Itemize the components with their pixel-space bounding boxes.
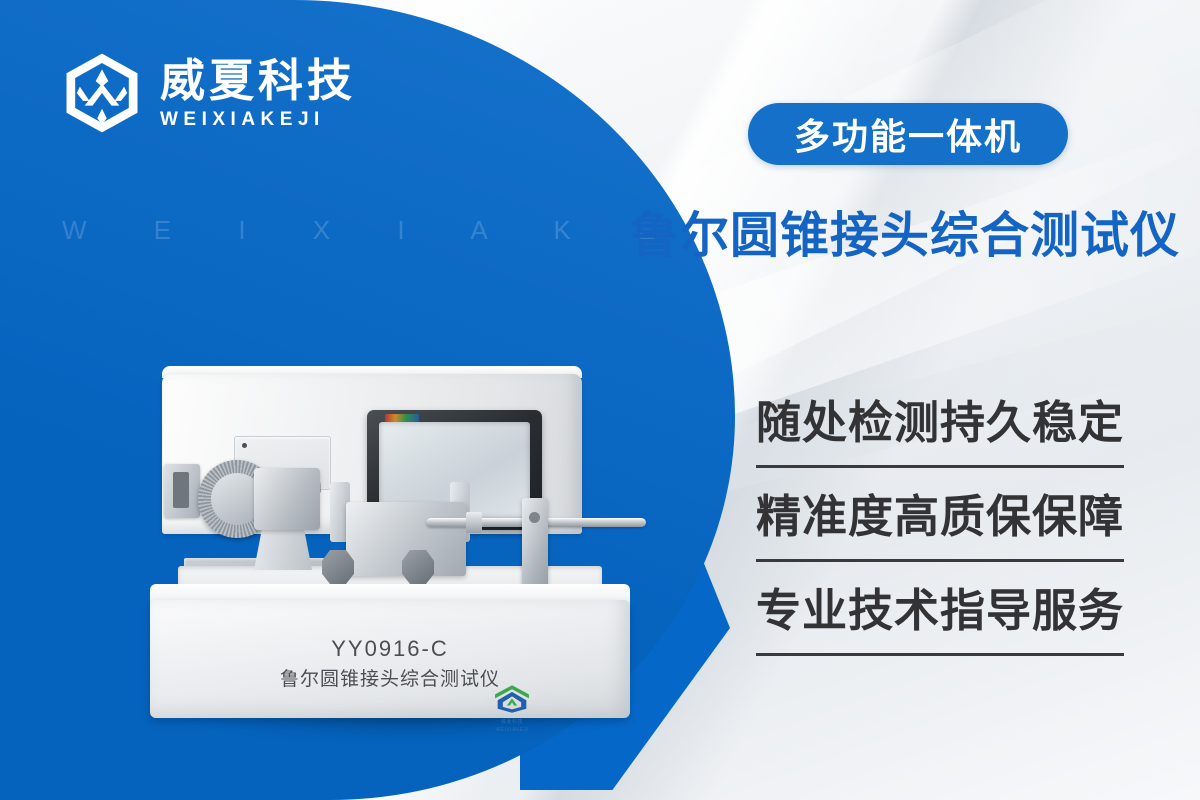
logo-name-en: WEIXIAKEJI [160, 110, 356, 129]
shaft-collar [466, 512, 482, 533]
promo-banner: W E I X I A K E J I 威夏科技 WEIXIAKEJI 多功能一… [0, 0, 1200, 800]
left-clamp-block [164, 464, 200, 518]
product-brand-badge-en: WEIXIAKEJI [490, 727, 534, 735]
feature-divider [756, 653, 1124, 656]
feature-text: 专业技术指导服务 [756, 584, 1124, 637]
hex-knob [402, 550, 434, 584]
feature-item: 随处检测持久稳定 [756, 396, 1124, 468]
feature-text: 精准度高质保保障 [756, 490, 1124, 543]
feature-item: 精准度高质保保障 [756, 490, 1124, 562]
product-model-subtitle: 鲁尔圆锥接头综合测试仪 [150, 664, 630, 691]
product-brand-badge-cn: 威夏科技 [490, 719, 534, 727]
hexagon-logo-icon [62, 52, 142, 134]
feature-divider [756, 559, 1124, 562]
page-title: 鲁尔圆锥接头综合测试仪 [630, 196, 1190, 267]
product-model-label: YY0916-C [150, 636, 630, 662]
feature-text: 随处检测持久稳定 [756, 396, 1124, 449]
product-image: YY0916-C 鲁尔圆锥接头综合测试仪 威夏科技 WEIXIAKEJI [150, 352, 670, 772]
feature-divider [756, 465, 1124, 468]
hex-knob [322, 550, 354, 584]
hmi-brand-icon [385, 414, 419, 422]
feature-list: 随处检测持久稳定 精准度高质保保障 专业技术指导服务 [756, 396, 1124, 678]
multifunction-badge: 多功能一体机 [748, 103, 1068, 165]
company-logo: 威夏科技 WEIXIAKEJI [62, 52, 356, 134]
brand-watermark: W E I X I A K E J I [62, 215, 622, 246]
rotary-drive-block [254, 468, 320, 530]
logo-name-cn: 威夏科技 [160, 58, 356, 103]
logo-wordmark: 威夏科技 WEIXIAKEJI [160, 58, 356, 129]
indicator-dot-icon [242, 443, 247, 448]
product-brand-badge: 威夏科技 WEIXIAKEJI [490, 684, 534, 718]
feature-item: 专业技术指导服务 [756, 584, 1124, 656]
